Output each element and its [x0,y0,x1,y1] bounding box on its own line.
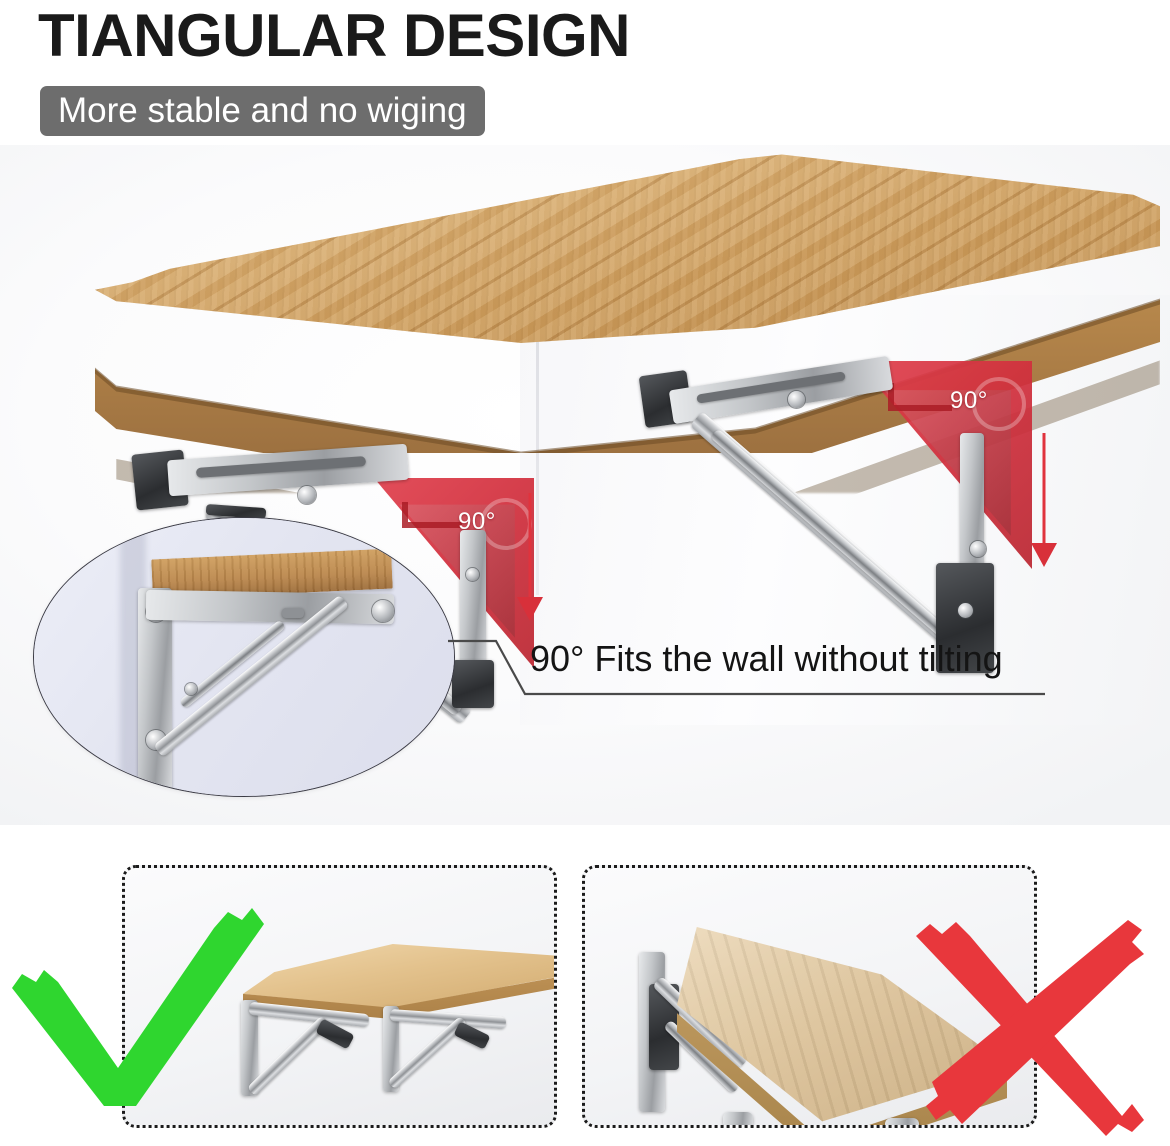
bad-bracket-foot [723,1112,753,1125]
magnifier-strut-bolt [185,683,197,695]
product-feature-image: TIANGULAR DESIGN More stable and no wigi… [0,0,1170,1146]
strut-bolt-right [970,541,986,557]
hero-caption: 90° Fits the wall without tilting [530,638,1003,680]
page-title: TIANGULAR DESIGN [38,4,630,67]
arrow-head-right [1031,543,1057,567]
arrow-left [517,493,543,623]
magnifier-top-arm [146,590,394,624]
right-angle-marker-right [888,383,952,411]
wall-plate-bolt-left [466,568,479,581]
bracket-pivot-bolt-left [298,486,316,504]
wall-plate-bolt-right [958,603,973,618]
arrow-right [1031,433,1057,573]
arrow-line-left [529,493,532,599]
magnifier-hinge-bolt [372,600,394,622]
arrow-line-right [1043,433,1046,545]
bracket-pivot-bolt-right [788,391,805,408]
checkmark-icon [0,890,300,1120]
subtitle-badge: More stable and no wiging [40,86,485,136]
magnifier-closeup [33,517,455,797]
arrow-head-left [517,597,543,621]
magnifier-hook-detail [282,608,304,618]
angle-label-right: 90° [950,387,988,415]
angle-overlay-right: 90° [856,361,1032,569]
cross-icon [892,898,1170,1146]
